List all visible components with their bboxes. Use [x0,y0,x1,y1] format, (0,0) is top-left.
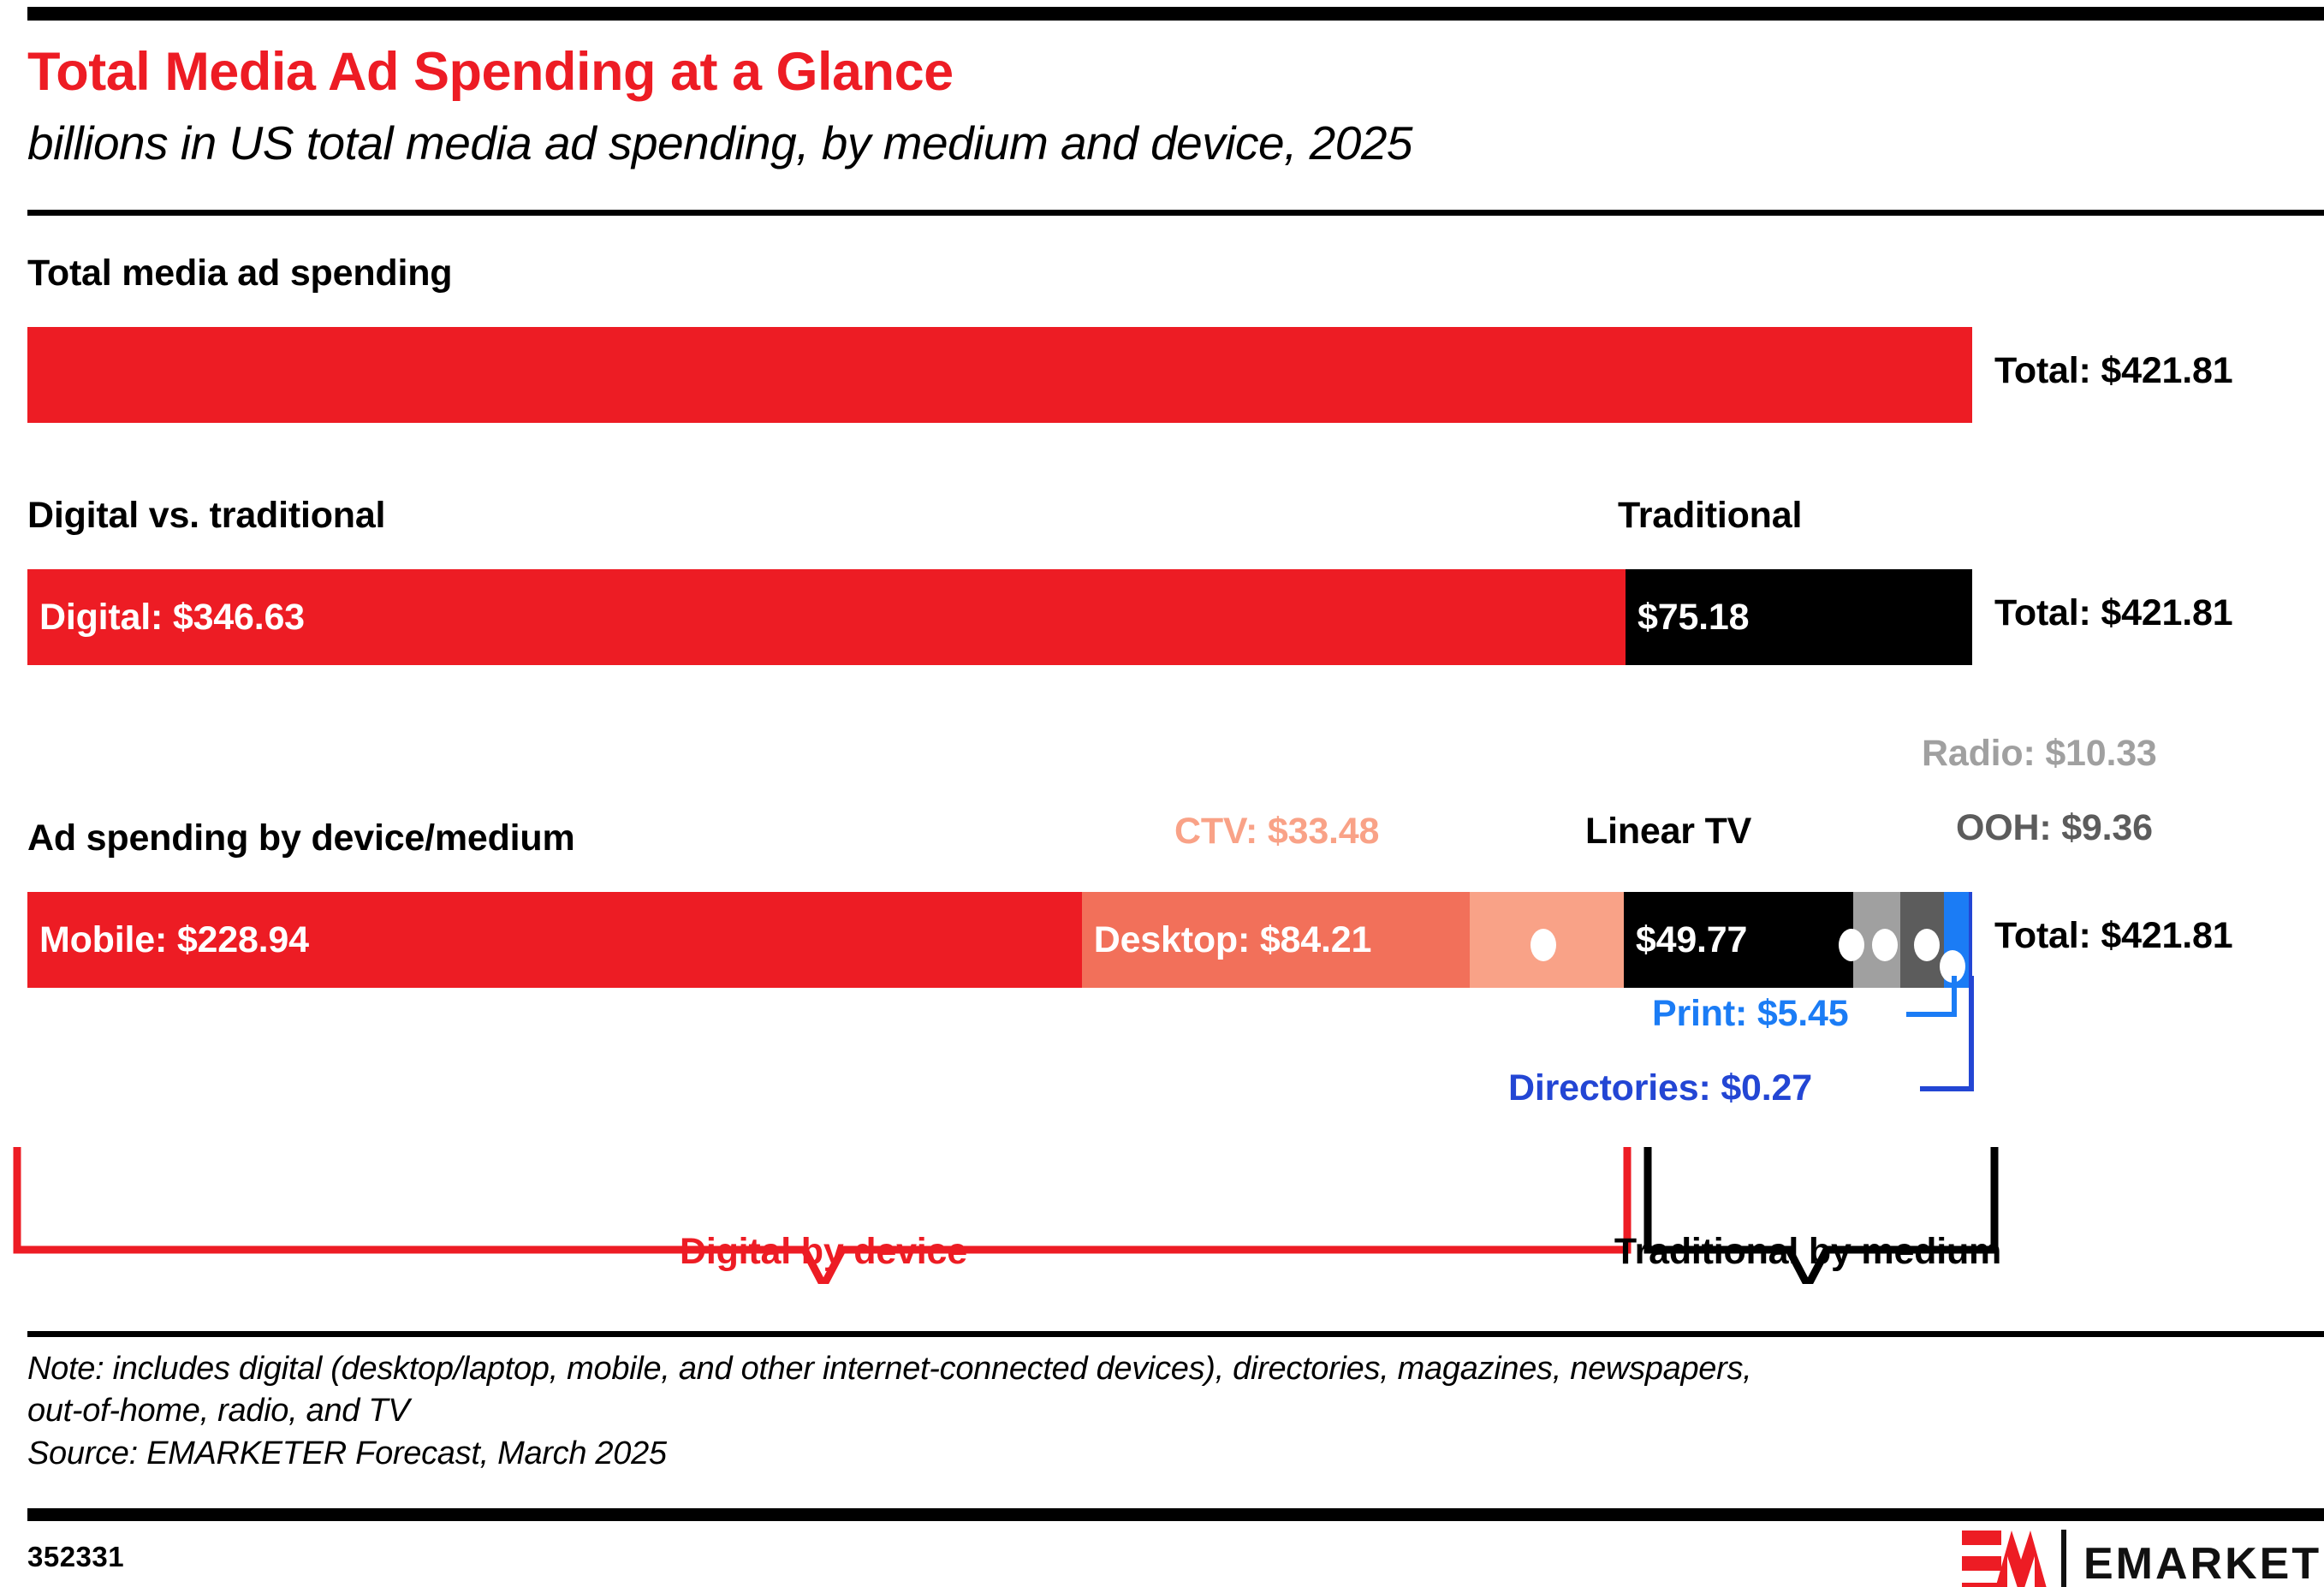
chart-canvas: Total Media Ad Spending at a Glance bill… [0,0,2324,1587]
em-mark-icon [1962,1531,2049,1587]
leader-line-directories [1920,976,1971,1089]
emarketer-logo: EMARKETER [1962,1530,2324,1587]
source-line: Source: EMARKETER Forecast, March 2025 [27,1433,2324,1475]
leader-lines-below [0,976,2324,1147]
section-label-total: Total media ad spending [27,253,452,294]
marker-dot-ctv [1531,929,1556,961]
bar-segment-total [27,327,1972,423]
bar-total [27,327,1972,423]
footer-divider-bottom [27,1508,2324,1521]
bracket-label-digital: Digital by device [567,1231,1080,1273]
bar-segment-mobile-label: Mobile: $228.94 [27,919,309,961]
bar-segment-linear-tv: $49.77 [1624,892,1853,988]
leader-lines-above [0,719,2324,916]
bar-segment-linear-tv-label: $49.77 [1624,919,1747,961]
note-text: Note: includes digital (desktop/laptop, … [27,1348,2324,1475]
bar-segment-traditional: $75.18 [1626,569,1972,665]
column-header-traditional: Traditional [1618,495,1802,537]
bar-digital-vs-traditional: Digital: $346.63 $75.18 [27,569,1972,665]
bar-segment-digital-label: Digital: $346.63 [27,597,305,639]
note-line-1: Note: includes digital (desktop/laptop, … [27,1348,2324,1390]
bar-segment-mobile: Mobile: $228.94 [27,892,1082,988]
header-divider [27,210,2324,216]
total-label-row3: Total: $421.81 [1994,915,2232,957]
bar-segment-digital: Digital: $346.63 [27,569,1626,665]
bar-segment-desktop: Desktop: $84.21 [1082,892,1470,988]
top-rule [27,7,2324,21]
total-label-row2: Total: $421.81 [1994,592,2232,634]
marker-dot-linear-tv [1839,929,1864,961]
logo-divider [2061,1530,2066,1587]
footer-divider-top [27,1331,2324,1337]
logo-wordmark: EMARKETER [2083,1538,2324,1587]
section-label-digital-vs-traditional: Digital vs. traditional [27,495,385,537]
note-line-2: out-of-home, radio, and TV [27,1390,2324,1432]
bar-device-medium: Mobile: $228.94 Desktop: $84.21 $49.77 [27,892,1972,988]
marker-dot-radio [1872,929,1898,961]
total-label-row1: Total: $421.81 [1994,350,2232,392]
m-glyph-icon [1993,1531,2049,1587]
bracket-label-traditional: Traditional by medium [1551,1231,2065,1273]
bar-segment-desktop-label: Desktop: $84.21 [1082,919,1371,961]
bar-segment-traditional-label: $75.18 [1626,597,1749,639]
page-title: Total Media Ad Spending at a Glance [27,41,2082,103]
leader-line-print [1906,976,1954,1014]
chart-id: 352331 [27,1541,124,1573]
marker-dot-ooh [1914,929,1940,961]
bar-segment-directories [1969,892,1972,988]
page-subtitle: billions in US total media ad spending, … [27,116,2253,170]
